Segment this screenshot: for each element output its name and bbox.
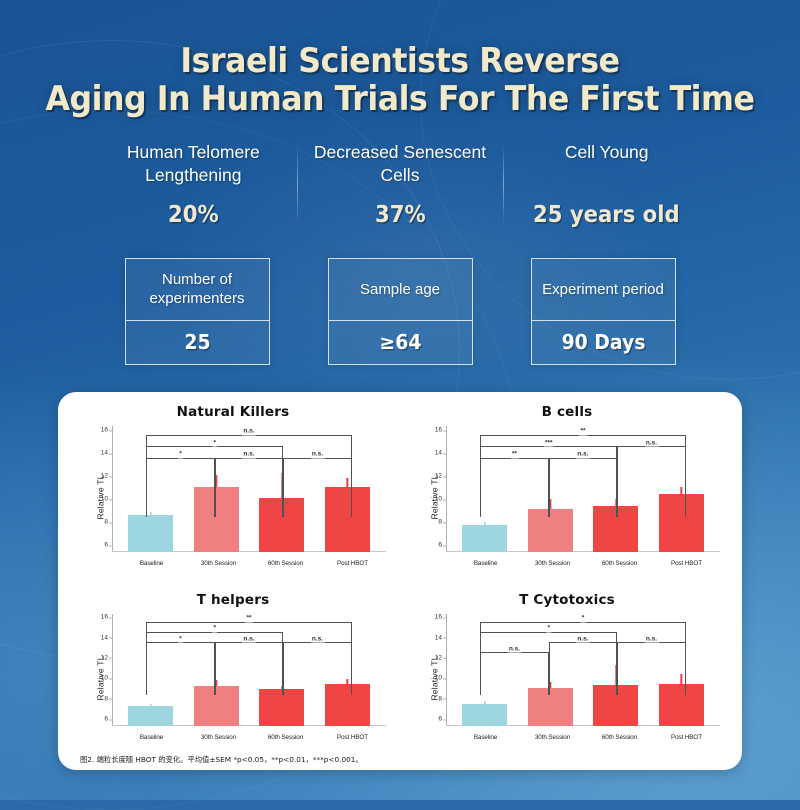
bar-group [128,614,173,726]
chart-natural-killers: Natural KillersRelative TL6810121416n.s.… [66,398,400,586]
bar [659,684,704,726]
stat-value: 20% [104,202,283,228]
charts-panel: Natural KillersRelative TL6810121416n.s.… [58,392,742,770]
cards-row: Number of experimenters 25 Sample age ≥6… [0,258,800,365]
stat-value: 37% [310,202,489,228]
y-axis-tick: 10 [90,675,108,682]
error-bar [615,665,616,685]
x-axis-ticks: Baseline30th Session60th SessionPost HBO… [452,560,720,567]
x-axis-tick-label: 60th Session [587,560,651,567]
error-bar [484,701,485,704]
y-axis-tick: 10 [424,496,442,503]
x-axis-tick-label: Post HBOT [320,734,384,741]
error-bar [681,674,682,684]
error-bar [615,499,616,506]
chart-title: Natural Killers [66,404,400,420]
charts-grid: Natural KillersRelative TL6810121416n.s.… [58,392,742,756]
chart-t-helpers: T helpersRelative TL6810121416****n.s.n.… [66,586,400,756]
y-axis-tick: 14 [90,634,108,641]
error-bar [281,686,282,690]
x-axis-tick-label: Baseline [119,560,183,567]
y-axis-tick: 10 [90,496,108,503]
stat-label: Decreased Senescent Cells [303,141,498,189]
y-axis-tick: 6 [90,716,108,723]
x-axis-tick-label: Post HBOT [654,734,718,741]
bar-group [462,426,507,552]
x-axis-tick-label: Baseline [453,560,517,567]
page-title: Israeli Scientists Reverse Aging In Huma… [0,0,800,119]
card-head: Experiment period [532,259,675,321]
bar-group [528,426,573,552]
bar [128,706,173,726]
chart-title: T helpers [66,592,400,608]
bar-group [128,426,173,552]
x-axis-tick-label: 30th Session [520,560,584,567]
error-bar [347,478,348,488]
card-value: 90 Days [536,321,670,364]
bar [259,498,304,552]
stat-item-telomere: Human Telomere Lengthening 20% [90,141,297,228]
bar [259,689,304,726]
axis-area: 6810121416**n.s.n.s.n.s. [446,614,720,726]
stats-row: Human Telomere Lengthening 20% Decreased… [90,141,710,228]
bars-group [118,426,380,552]
bar [194,487,239,552]
bar [128,515,173,552]
stat-label: Human Telomere Lengthening [96,141,291,189]
error-bar [150,704,151,706]
stat-item-cell-young: Cell Young 25 years old [503,141,710,228]
bar-group [593,614,638,726]
bar-group [194,614,239,726]
y-axis-tick: 6 [90,542,108,549]
y-axis-tick: 16 [424,427,442,434]
y-axis-tick: 8 [90,519,108,526]
y-axis-tick: 8 [424,519,442,526]
bar [528,688,573,726]
chart-title: B cells [400,404,734,420]
x-axis-ticks: Baseline30th Session60th SessionPost HBO… [118,560,386,567]
chart-b-cells: B cellsRelative TL6810121416*******n.s.n… [400,398,734,586]
axis-area: 6810121416*******n.s.n.s. [446,426,720,552]
figure-caption: 图2. 端粒长度随 HBOT 的变化。平均值±SEM *p<0.05，**p<0… [80,755,363,765]
x-axis-tick-label: Baseline [119,734,183,741]
card-value: ≥64 [333,321,467,364]
y-axis-line [112,426,113,552]
bar [194,686,239,726]
x-axis-tick-label: 30th Session [520,734,584,741]
bar [325,684,370,726]
error-bar [681,487,682,493]
bar-group [194,426,239,552]
y-axis-line [446,426,447,552]
bar [659,494,704,552]
x-axis-tick-label: Post HBOT [654,560,718,567]
bar-group [325,426,370,552]
y-axis-tick: 6 [424,716,442,723]
y-axis-tick: 8 [424,695,442,702]
y-axis-tick: 10 [424,675,442,682]
card-experimenters: Number of experimenters 25 [125,258,270,365]
error-bar [550,499,551,509]
bar-group [325,614,370,726]
y-axis-tick: 14 [90,450,108,457]
error-bar [150,512,151,515]
bars-group [118,614,380,726]
error-bar [484,522,485,525]
page-title-line-1: Israeli Scientists Reverse [28,42,772,80]
stat-item-senescent: Decreased Senescent Cells 37% [297,141,504,228]
card-head: Number of experimenters [126,259,269,321]
y-axis-line [446,614,447,726]
stat-label: Cell Young [509,141,704,189]
x-axis-tick-label: Post HBOT [320,560,384,567]
y-axis-tick: 12 [90,654,108,661]
chart-t-cytotoxics: T CytotoxicsRelative TL6810121416**n.s.n… [400,586,734,756]
bar-group [659,614,704,726]
bars-group [452,426,714,552]
y-axis-tick: 14 [424,634,442,641]
bar [528,509,573,552]
bar-group [259,614,304,726]
bar [462,525,507,552]
x-axis-tick-label: 30th Session [186,734,250,741]
y-axis-tick: 6 [424,542,442,549]
y-axis-tick: 12 [90,473,108,480]
bar [325,487,370,552]
error-bar [216,475,217,487]
y-axis-tick: 16 [424,614,442,621]
y-axis-tick: 8 [90,695,108,702]
y-axis-tick: 12 [424,473,442,480]
x-axis-tick-label: Baseline [453,734,517,741]
x-axis-tick-label: 60th Session [253,560,317,567]
bar [593,506,638,552]
chart-title: T Cytotoxics [400,592,734,608]
y-axis-tick: 16 [90,614,108,621]
error-bar [550,682,551,688]
bar [593,685,638,726]
card-value: 25 [130,321,264,364]
stat-value: 25 years old [517,202,696,228]
plot-area: Relative TL6810121416*******n.s.n.s.Base… [410,426,724,568]
bar-group [462,614,507,726]
axis-area: 6810121416****n.s.n.s. [112,614,386,726]
x-axis-ticks: Baseline30th Session60th SessionPost HBO… [118,734,386,741]
x-axis-tick-label: 60th Session [587,734,651,741]
card-experiment-period: Experiment period 90 Days [531,258,676,365]
bar [462,704,507,726]
page-title-line-2: Aging In Human Trials For The First Time [28,80,772,118]
y-axis-tick: 16 [90,427,108,434]
plot-area: Relative TL6810121416**n.s.n.s.n.s.Basel… [410,614,724,742]
y-axis-line [112,614,113,726]
bar-group [528,614,573,726]
error-bar [347,679,348,684]
plot-area: Relative TL6810121416n.s.**n.s.n.s.Basel… [76,426,390,568]
bar-group [259,426,304,552]
y-axis-tick: 14 [424,450,442,457]
x-axis-ticks: Baseline30th Session60th SessionPost HBO… [452,734,720,741]
axis-area: 6810121416n.s.**n.s.n.s. [112,426,386,552]
x-axis-tick-label: 30th Session [186,560,250,567]
x-axis-tick-label: 60th Session [253,734,317,741]
error-bar [216,680,217,686]
bar-group [659,426,704,552]
card-head: Sample age [329,259,472,321]
error-bar [281,473,282,498]
y-axis-tick: 12 [424,654,442,661]
bar-group [593,426,638,552]
plot-area: Relative TL6810121416****n.s.n.s.Baselin… [76,614,390,742]
card-sample-age: Sample age ≥64 [328,258,473,365]
bars-group [452,614,714,726]
